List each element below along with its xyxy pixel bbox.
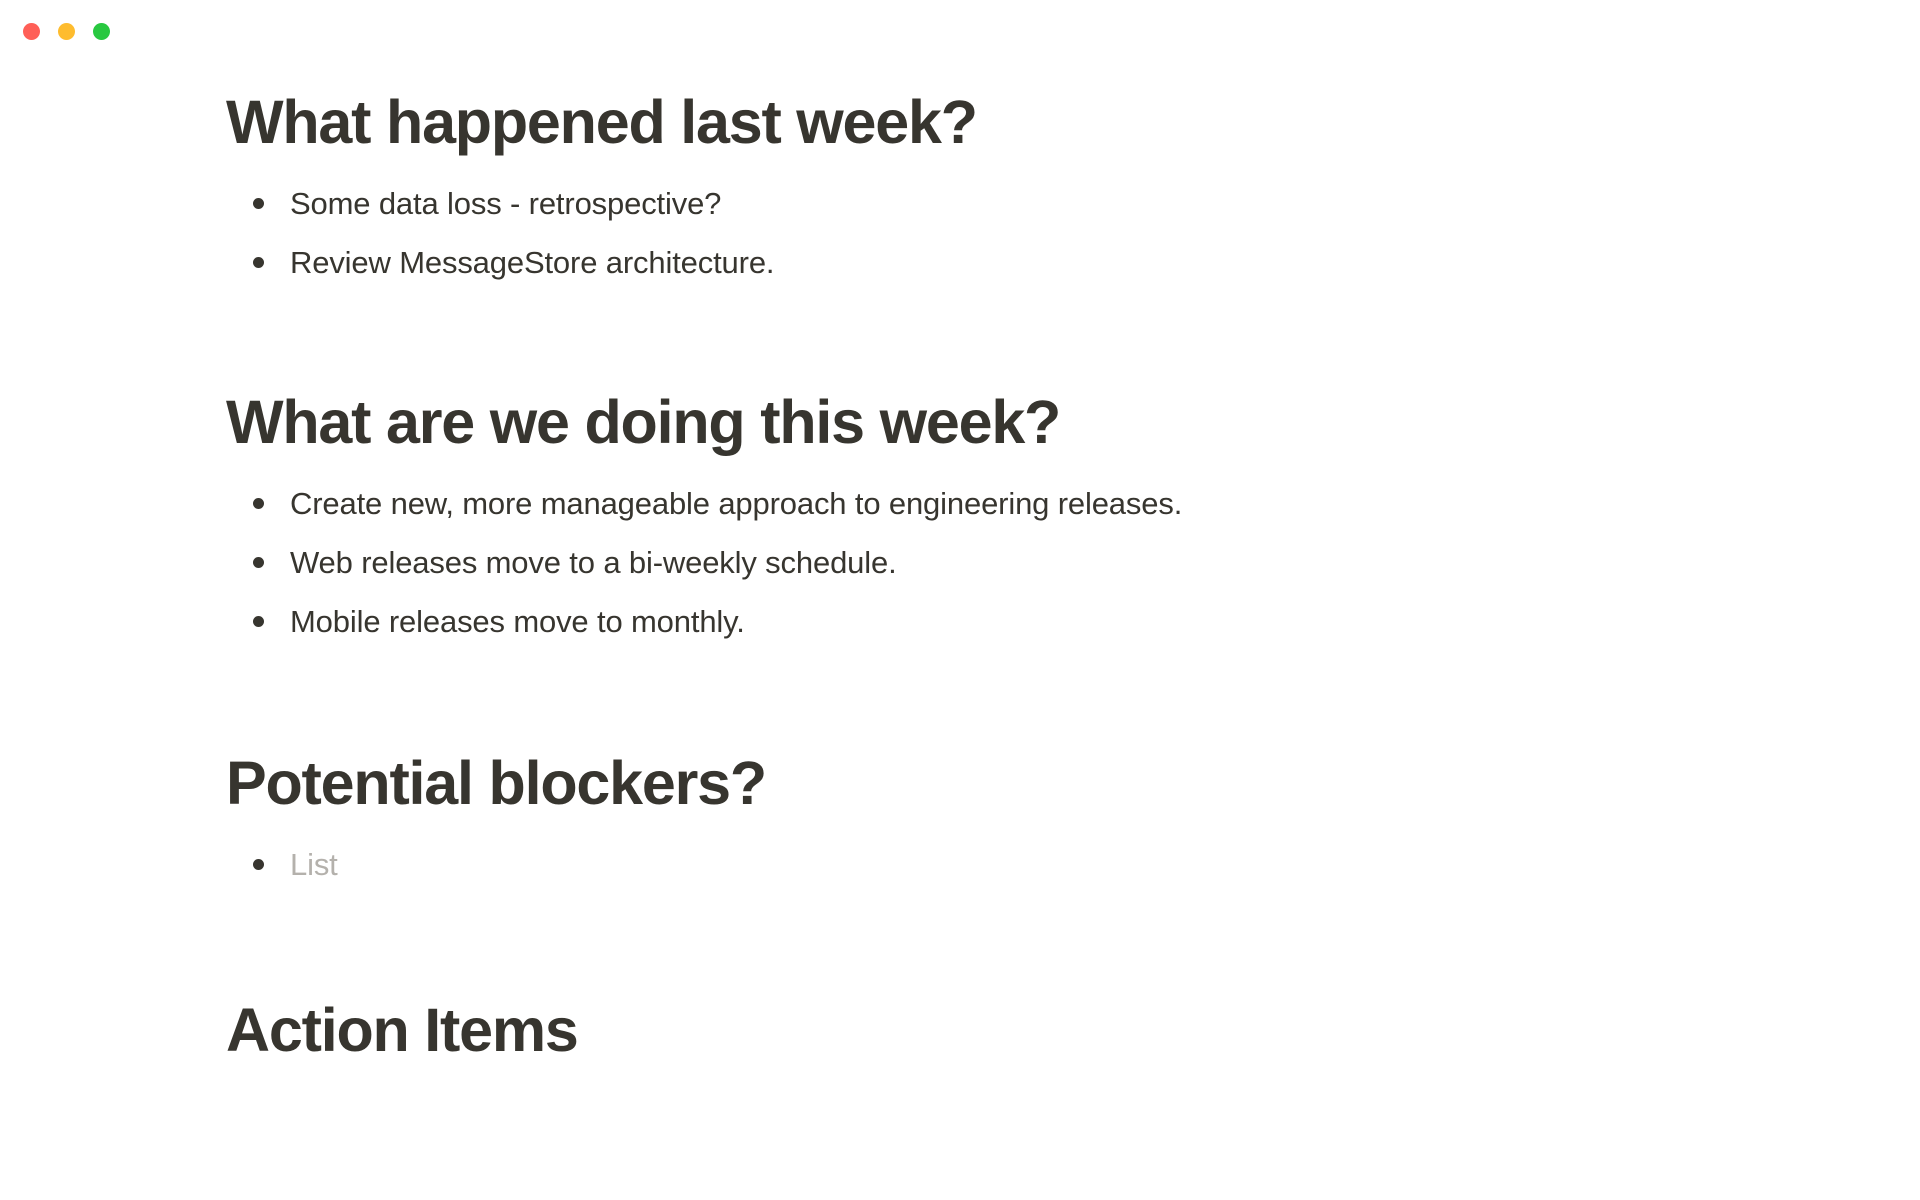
close-window-button[interactable] xyxy=(23,23,40,40)
list-item[interactable]: Create new, more manageable approach to … xyxy=(226,481,1840,540)
document-section: Potential blockers? List xyxy=(226,748,1840,901)
bullet-dot-icon xyxy=(226,181,290,209)
list-item[interactable]: Review MessageStore architecture. xyxy=(226,240,1840,299)
bullet-dot-icon xyxy=(226,540,290,568)
minimize-window-button[interactable] xyxy=(58,23,75,40)
list-item-text[interactable]: Web releases move to a bi-weekly schedul… xyxy=(290,540,897,586)
window-controls xyxy=(23,23,110,40)
bulleted-list: Some data loss - retrospective? Review M… xyxy=(226,181,1840,299)
section-heading-action-items[interactable]: Action Items xyxy=(226,995,1840,1067)
list-item[interactable]: Some data loss - retrospective? xyxy=(226,181,1840,240)
list-item-text[interactable]: Some data loss - retrospective? xyxy=(290,181,721,227)
list-item[interactable]: Mobile releases move to monthly. xyxy=(226,599,1840,658)
document-section: What are we doing this week? Create new,… xyxy=(226,387,1840,658)
section-heading-potential-blockers[interactable]: Potential blockers? xyxy=(226,748,1840,820)
bulleted-list: Create new, more manageable approach to … xyxy=(226,481,1840,658)
list-item-text[interactable]: Create new, more manageable approach to … xyxy=(290,481,1182,527)
list-item-text[interactable]: Review MessageStore architecture. xyxy=(290,240,774,286)
maximize-window-button[interactable] xyxy=(93,23,110,40)
window-titlebar xyxy=(0,0,1920,62)
section-heading-what-happened-last-week[interactable]: What happened last week? xyxy=(226,87,1840,159)
section-heading-what-are-we-doing-this-week[interactable]: What are we doing this week? xyxy=(226,387,1840,459)
list-item-placeholder-text[interactable]: List xyxy=(290,842,338,888)
app-window: What happened last week? Some data loss … xyxy=(0,0,1920,1200)
list-item[interactable]: Web releases move to a bi-weekly schedul… xyxy=(226,540,1840,599)
bulleted-list: List xyxy=(226,842,1840,901)
list-item-text[interactable]: Mobile releases move to monthly. xyxy=(290,599,745,645)
document-content[interactable]: What happened last week? Some data loss … xyxy=(0,62,1920,1200)
document-section: Action Items xyxy=(226,995,1840,1067)
bullet-dot-icon xyxy=(226,599,290,627)
bullet-dot-icon xyxy=(226,481,290,509)
list-item[interactable]: List xyxy=(226,842,1840,901)
document-section: What happened last week? Some data loss … xyxy=(226,87,1840,299)
bullet-dot-icon xyxy=(226,842,290,870)
bullet-dot-icon xyxy=(226,240,290,268)
